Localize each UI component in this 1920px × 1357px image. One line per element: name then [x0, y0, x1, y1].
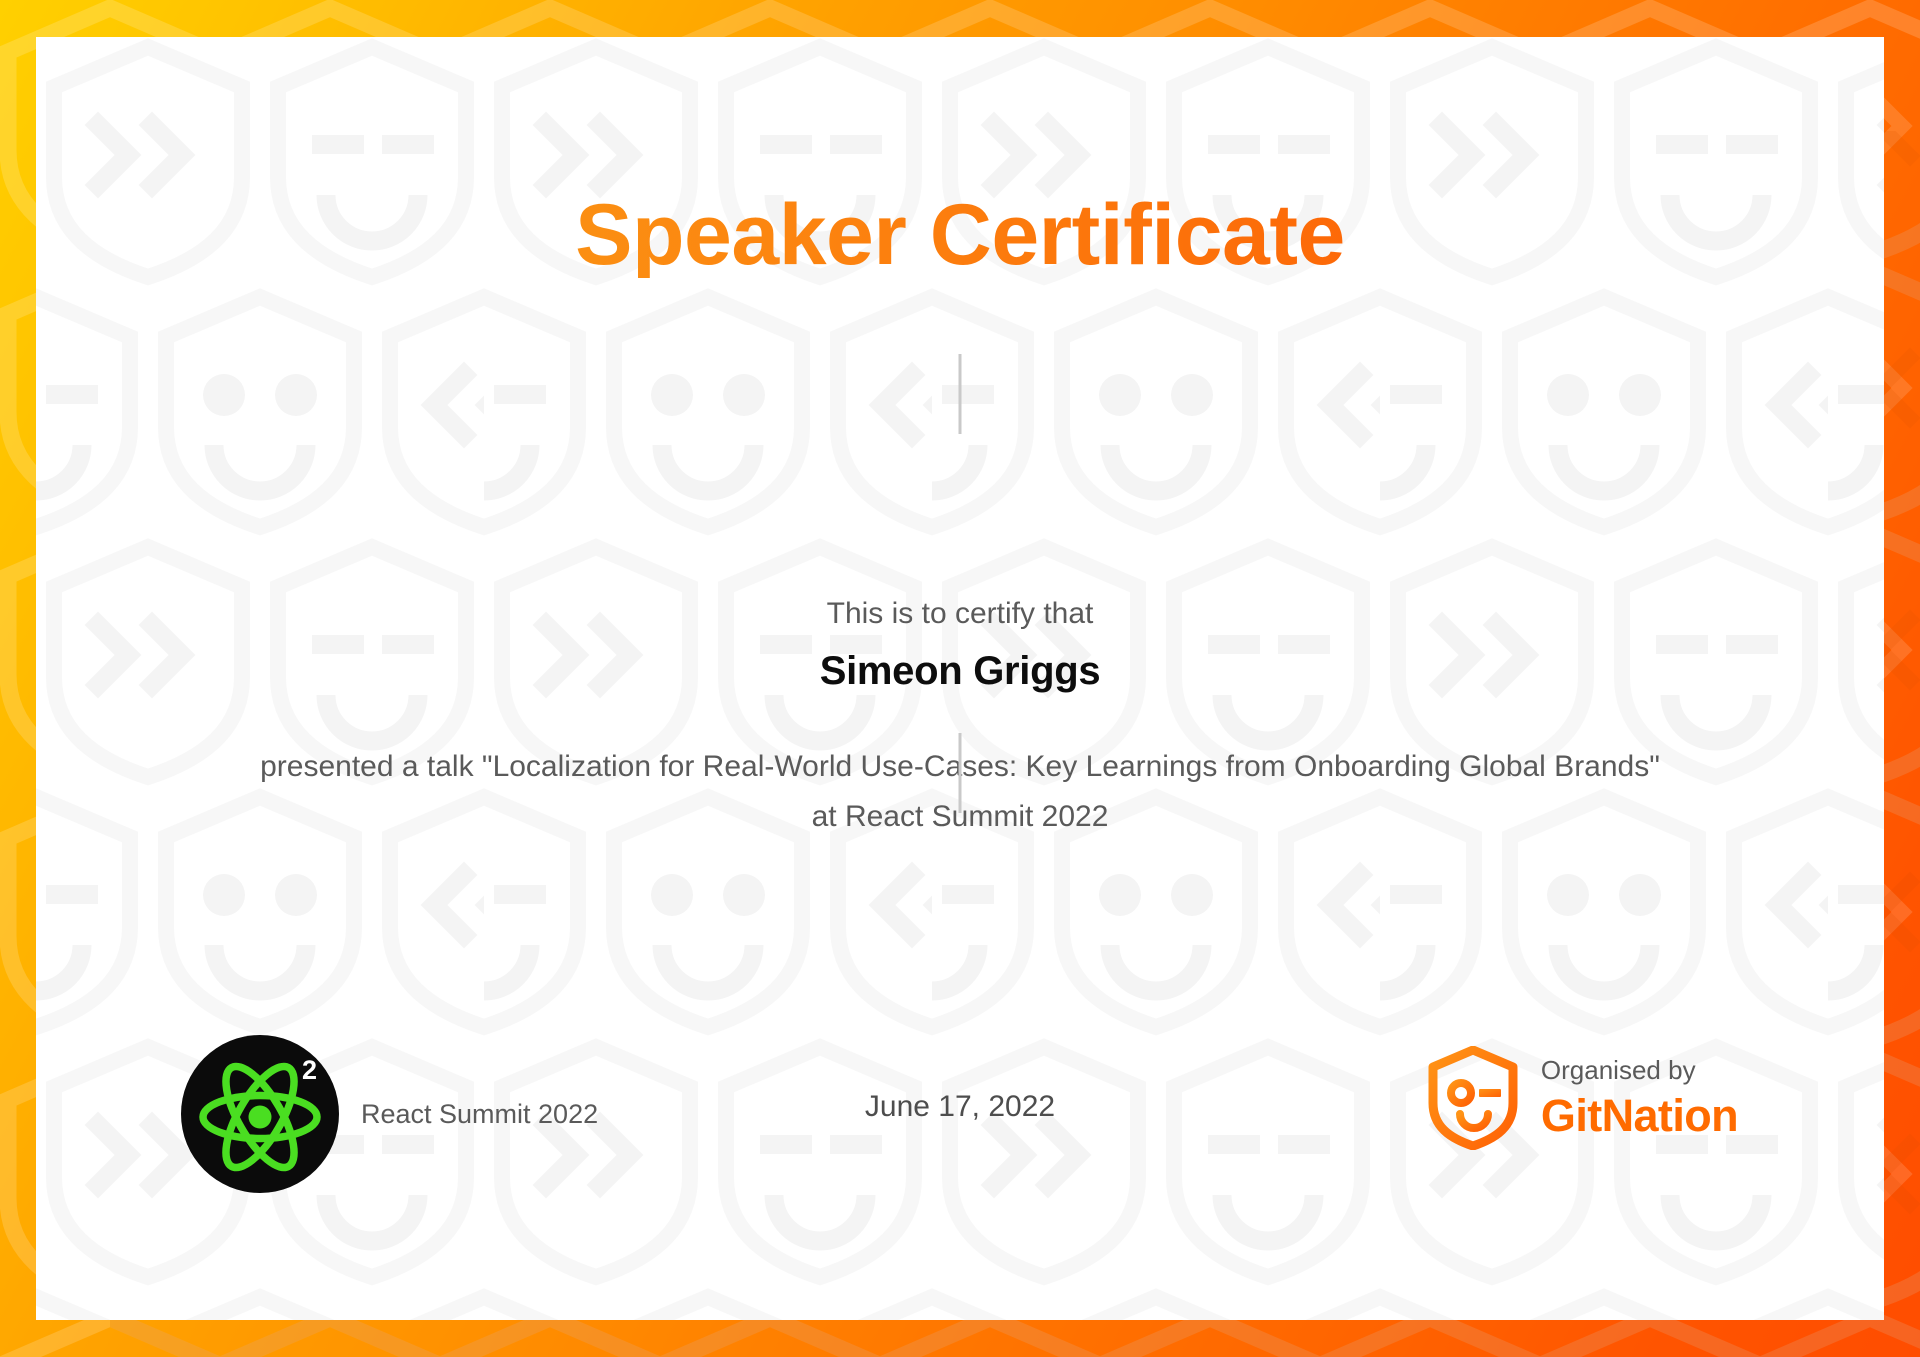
- react-summit-superscript: 2: [302, 1057, 317, 1084]
- certificate-card: Speaker Certificate This is to certify t…: [36, 37, 1884, 1320]
- page-title: Speaker Certificate: [36, 192, 1884, 278]
- divider-bottom: [959, 733, 962, 813]
- organiser-text: Organised by GitNation: [1541, 1057, 1738, 1139]
- recipient-name: Simeon Griggs: [36, 649, 1884, 694]
- organiser-block: Organised by GitNation: [1427, 1046, 1738, 1150]
- organiser-name: GitNation: [1541, 1092, 1738, 1139]
- gitnation-shield-face-icon: [1427, 1046, 1519, 1150]
- certificate-footer: 2 React Summit 2022 June 17, 2022: [36, 1012, 1884, 1212]
- divider-top: [959, 354, 962, 434]
- certificate: Speaker Certificate This is to certify t…: [0, 0, 1920, 1357]
- certify-line: This is to certify that: [36, 597, 1884, 631]
- organiser-prefix: Organised by: [1541, 1057, 1738, 1084]
